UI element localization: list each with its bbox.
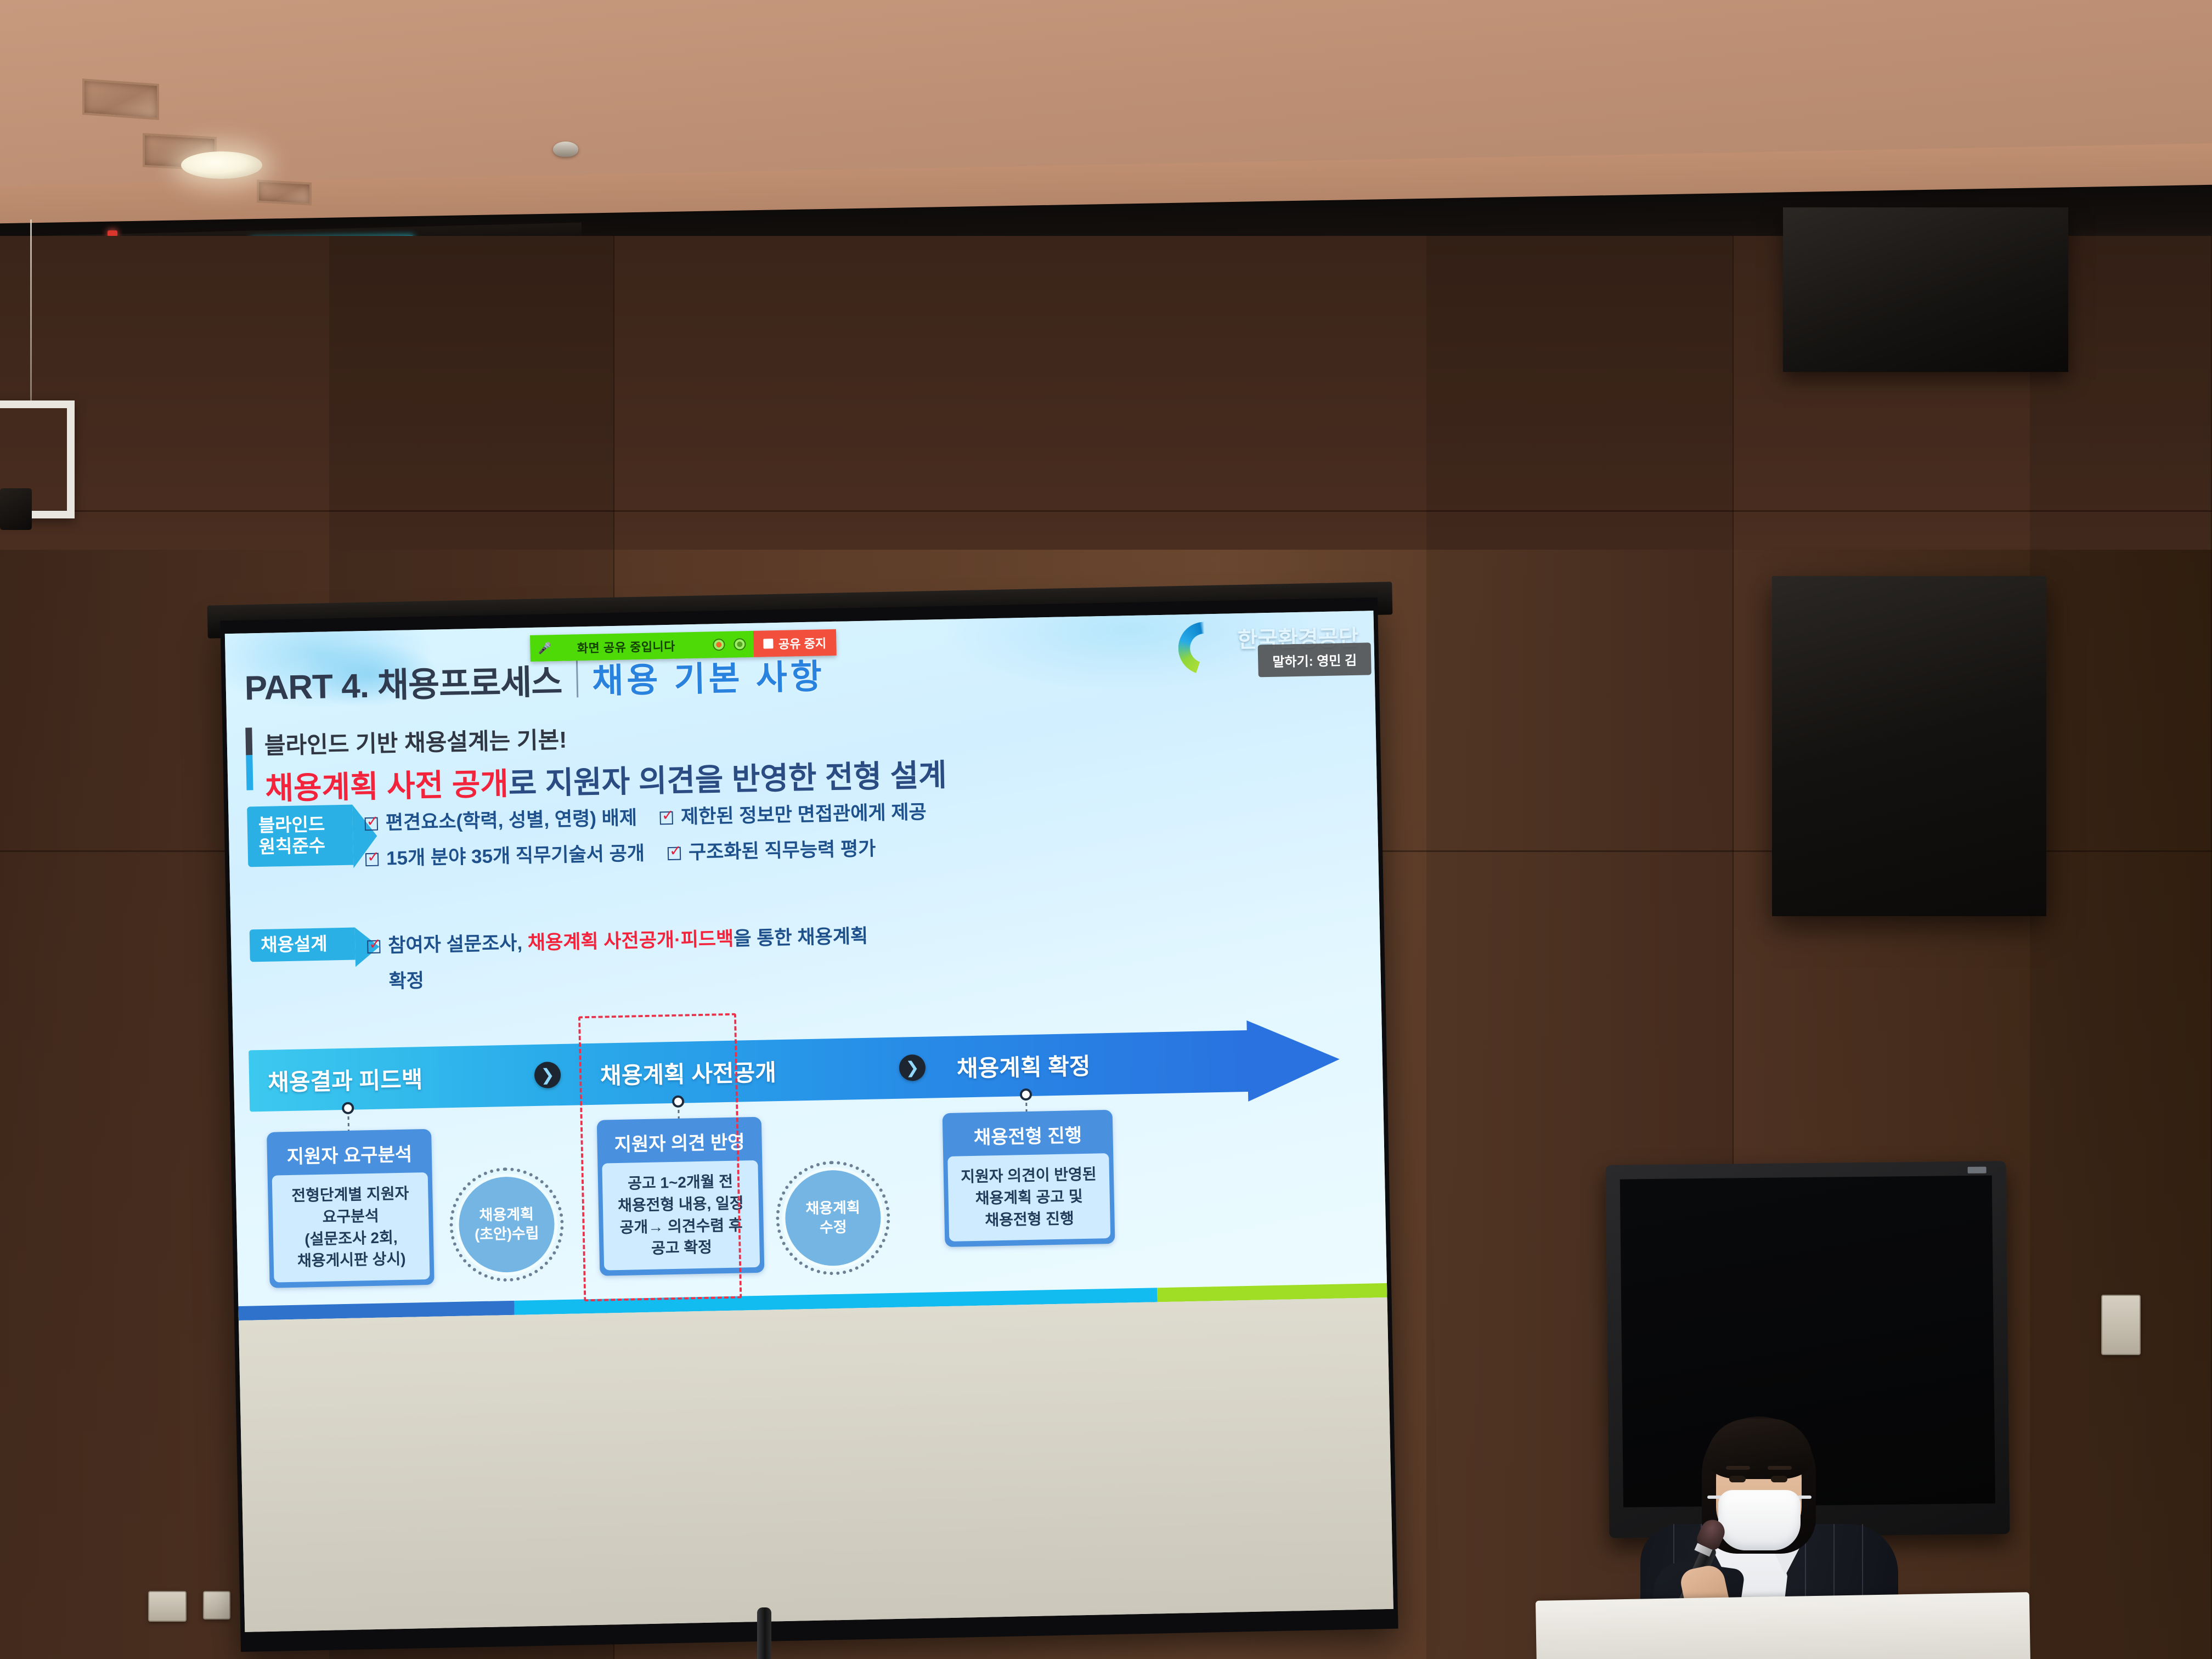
ceiling-vent <box>82 78 159 120</box>
card-body: 지원자 의견이 반영된 채용계획 공고 및 채용전형 진행 <box>947 1153 1110 1242</box>
wall-outlet-plate[interactable] <box>2101 1295 2141 1355</box>
presenter-eye <box>1729 1476 1746 1482</box>
presenter-eye <box>1771 1476 1787 1482</box>
arc-logo-icon <box>1178 621 1231 656</box>
smoke-detector-icon <box>553 142 578 157</box>
card-title: 지원자 요구분석 <box>271 1133 427 1176</box>
arrow-head <box>1246 1019 1340 1102</box>
bullet-text-pre: 참여자 설문조사, <box>388 932 528 956</box>
bullet-text-second-line: 확정 <box>388 965 424 994</box>
presenter-hair-front <box>1706 1419 1813 1479</box>
screen-blank-area <box>239 1297 1393 1632</box>
bullet-row: 참여자 설문조사, 채용계획 사전공개·피드백을 통한 채용계획 <box>367 921 868 958</box>
wall-outlet-plate[interactable] <box>148 1591 187 1622</box>
hanging-wire <box>30 219 32 406</box>
title-divider <box>575 659 578 697</box>
section-blind-principles: 블라인드원칙준수 편견요소(학력, 성별, 연령) 배제 제한된 정보만 면접관… <box>247 793 928 882</box>
screen-surface: 🎤 화면 공유 중입니다 공유 중지 PART 4. 채용프로세스 채용 기본 … <box>225 611 1393 1632</box>
process-circle: 채용계획 수정 <box>785 1169 882 1266</box>
bullet-text-emphasis: 채용계획 사전공개·피드백 <box>527 928 733 954</box>
circle-line-1: 채용계획 <box>479 1205 534 1225</box>
process-arrow: 채용결과 피드백 ❯ 채용계획 사전공개 ❯ 채용계획 확정 <box>249 1029 1341 1112</box>
card-title: 채용전형 진행 <box>947 1114 1109 1156</box>
ceiling-speaker <box>1772 576 2046 916</box>
connector-dot <box>342 1102 354 1114</box>
bullet-text-post: 을 통한 채용계획 <box>733 926 868 950</box>
stop-square-icon <box>763 639 773 648</box>
checkbox-checked-icon <box>660 811 673 825</box>
wall-outlet-plate[interactable] <box>203 1591 230 1620</box>
active-speaker-badge: 말하기: 영민 김 <box>1258 642 1372 677</box>
floor-microphone-stand <box>757 1607 771 1659</box>
conference-room: 🎤 화면 공유 중입니다 공유 중지 PART 4. 채용프로세스 채용 기본 … <box>0 0 2212 1659</box>
process-circle: 채용계획 (초안)수립 <box>458 1176 555 1273</box>
projector-housing <box>1783 207 2068 372</box>
headline-highlight: 채용계획 사전 공개 <box>265 766 509 806</box>
bullet-row: 편견요소(학력, 성별, 연령) 배제 제한된 정보만 면접관에게 제공 <box>364 797 927 836</box>
ceiling-light <box>181 151 262 179</box>
checkbox-checked-icon <box>367 940 380 953</box>
checkbox-checked-icon <box>668 847 681 860</box>
bullet-row-continuation: 확정 <box>368 956 869 994</box>
highlight-dashed-box <box>578 1013 742 1302</box>
headline-accent-bars <box>245 727 253 809</box>
wall-speaker-small <box>0 488 32 530</box>
process-step-3: 채용계획 확정 <box>956 1034 1091 1098</box>
projection-screen: 🎤 화면 공유 중입니다 공유 중지 PART 4. 채용프로세스 채용 기본 … <box>220 597 1398 1652</box>
section-chip-blind: 블라인드원칙준수 <box>247 805 353 867</box>
ceiling-vent <box>257 179 312 205</box>
presentation-slide: 🎤 화면 공유 중입니다 공유 중지 PART 4. 채용프로세스 채용 기본 … <box>225 611 1387 1321</box>
share-status-group: 🎤 화면 공유 중입니다 <box>530 631 753 662</box>
section-chip-design: 채용설계 <box>250 928 356 962</box>
annotate-icon[interactable] <box>733 638 746 650</box>
slide-part-title: PART 4. 채용프로세스 <box>244 654 562 710</box>
process-card: 채용전형 진행 지원자 의견이 반영된 채용계획 공고 및 채용전형 진행 <box>943 1110 1115 1247</box>
checkbox-checked-icon <box>365 853 379 866</box>
bullet-row: 15개 분야 35개 직무기술서 공개 구조화된 직무능력 평가 <box>365 832 928 872</box>
process-step-1: 채용결과 피드백 <box>267 1047 423 1111</box>
bullet-text-right: 제한된 정보만 면접관에게 제공 <box>680 797 927 830</box>
podium <box>1536 1592 2030 1659</box>
share-status-label: 화면 공유 중입니다 <box>561 636 704 657</box>
pause-share-icon[interactable] <box>713 639 725 651</box>
bullet-text-right: 구조화된 직무능력 평가 <box>688 833 876 865</box>
presenter-eyebrow <box>1726 1466 1750 1470</box>
presenter-eyebrow <box>1768 1466 1792 1470</box>
bullet-text-left: 편견요소(학력, 성별, 연령) 배제 <box>385 802 637 835</box>
section-recruit-design: 채용설계 참여자 설문조사, 채용계획 사전공개·피드백을 통한 채용계획 확정 <box>250 917 870 1005</box>
microphone-icon: 🎤 <box>538 641 552 656</box>
stop-share-label: 공유 중지 <box>778 634 827 652</box>
circle-line-2: 수정 <box>820 1218 847 1238</box>
stop-share-button[interactable]: 공유 중지 <box>753 629 836 657</box>
monitor-power-led <box>1968 1167 1987 1173</box>
circle-line-1: 채용계획 <box>805 1198 860 1218</box>
connector-dot <box>1020 1088 1032 1101</box>
card-body: 전형단계별 지원자 요구분석 (설문조사 2회, 채용게시판 상시) <box>272 1172 430 1283</box>
bullet-text-left: 15개 분야 35개 직무기술서 공개 <box>386 838 645 871</box>
face-mask <box>1718 1490 1801 1550</box>
circle-line-2: (초안)수립 <box>475 1224 539 1244</box>
checkbox-checked-icon <box>365 817 378 831</box>
process-card: 지원자 요구분석 전형단계별 지원자 요구분석 (설문조사 2회, 채용게시판 … <box>267 1129 435 1288</box>
